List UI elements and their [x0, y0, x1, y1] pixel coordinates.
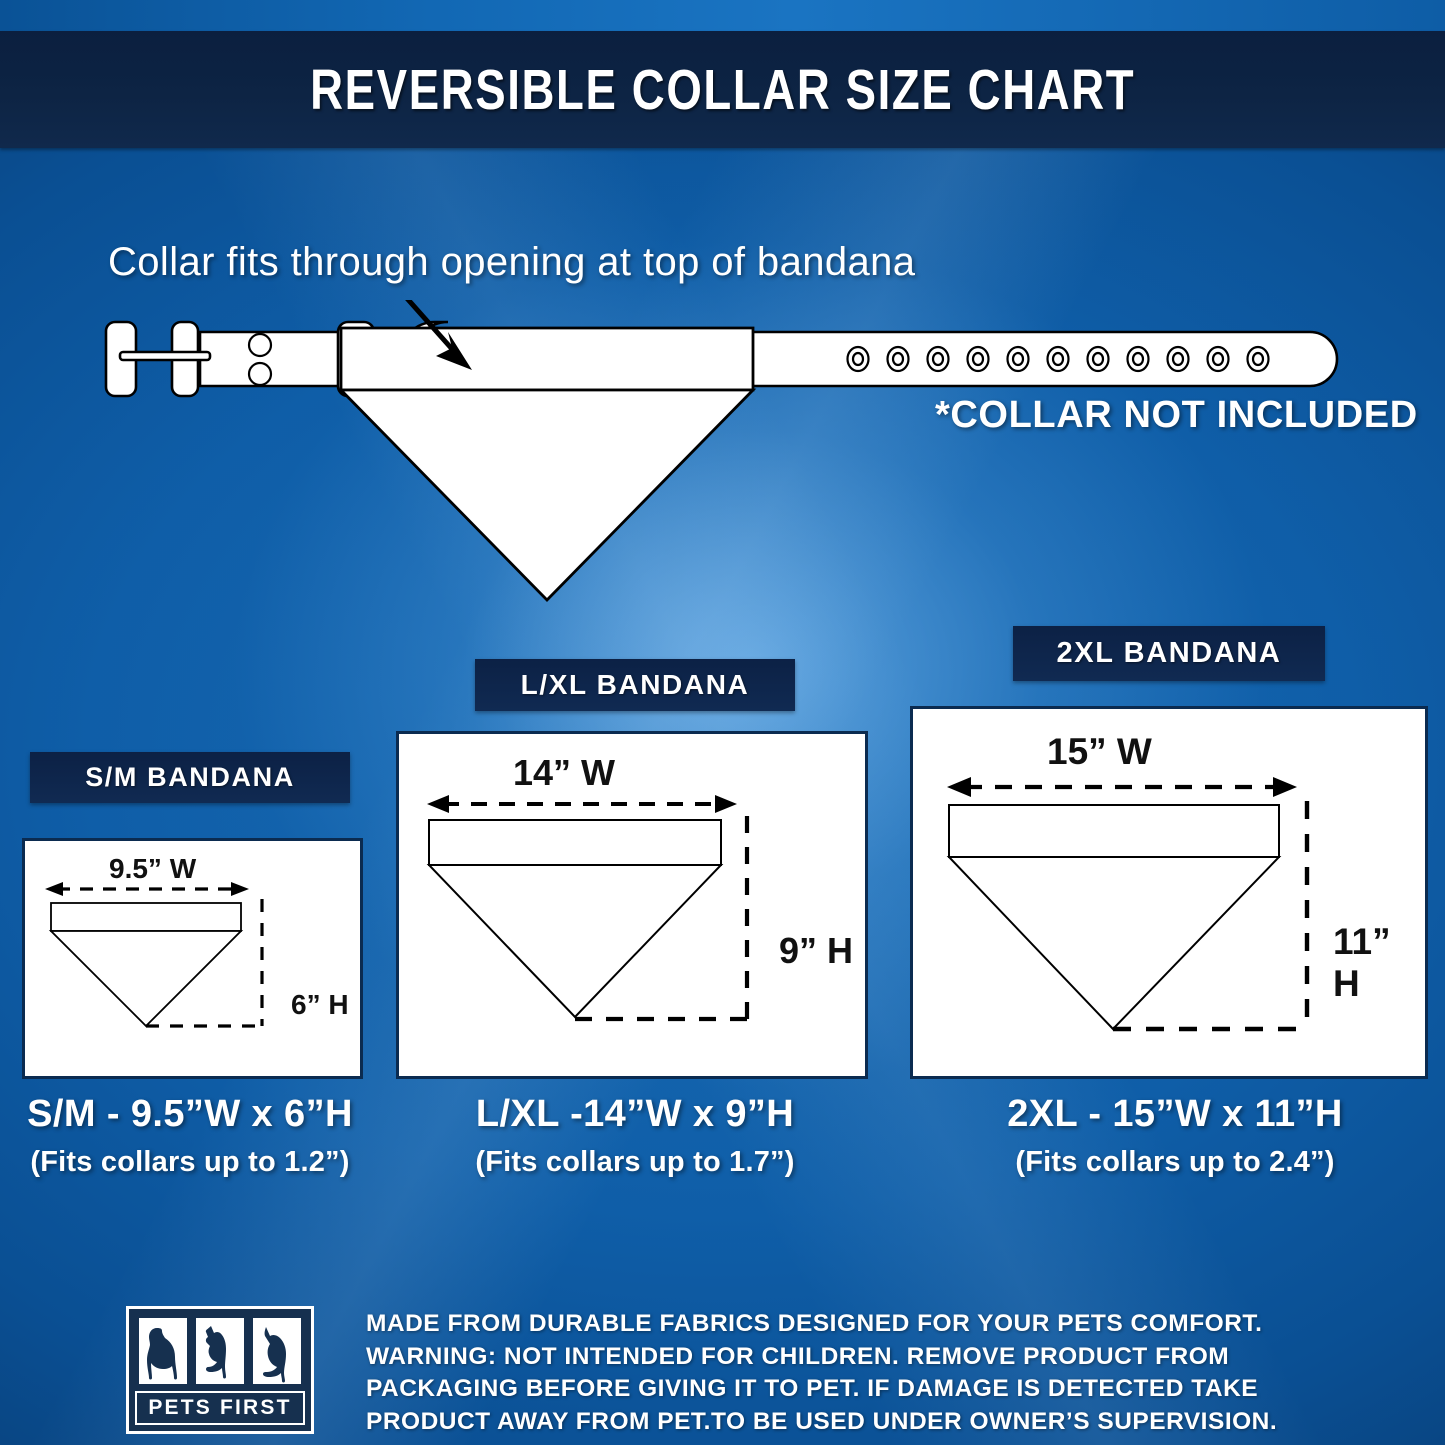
caption-size-2xl-sub: (Fits collars up to 2.4”) [995, 1146, 1355, 1179]
lxl-width-label: 14” W [513, 752, 615, 794]
header-bar: REVERSIBLE COLLAR SIZE CHART [0, 31, 1445, 148]
tab-size-lxl-label: L/XL BANDANA [521, 669, 750, 701]
disclaimer-line-3: PACKAGING BEFORE GIVING IT TO PET. IF DA… [366, 1373, 1356, 1406]
caption-size-lxl-main: L/XL -14”W x 9”H [455, 1093, 815, 1136]
diagram-size-lxl [399, 734, 859, 1070]
caption-size-2xl: 2XL - 15”W x 11”H (Fits collars up to 2.… [995, 1093, 1355, 1179]
size-chart-infographic: REVERSIBLE COLLAR SIZE CHART Collar fits… [0, 0, 1445, 1445]
caption-size-2xl-main: 2XL - 15”W x 11”H [995, 1093, 1355, 1136]
lxl-height-label: 9” H [779, 930, 853, 972]
collar-bandana-illustration [80, 300, 1370, 630]
panel-size-lxl: 14” W 9” H [396, 731, 868, 1079]
caption-size-sm-sub: (Fits collars up to 1.2”) [10, 1146, 370, 1179]
tab-size-sm: S/M BANDANA [30, 752, 350, 803]
brand-logo: PETS FIRST [126, 1306, 314, 1434]
logo-dog-panels [137, 1316, 303, 1386]
brand-name: PETS FIRST [135, 1391, 305, 1425]
dog-begging-icon [194, 1316, 246, 1386]
panel-size-2xl: 15” W 11” H [910, 706, 1428, 1079]
caption-size-sm: S/M - 9.5”W x 6”H (Fits collars up to 1.… [10, 1093, 370, 1179]
diagram-size-2xl [913, 709, 1419, 1070]
dog-sitting-icon [137, 1316, 189, 1386]
disclaimer-line-1: MADE FROM DURABLE FABRICS DESIGNED FOR Y… [366, 1308, 1356, 1341]
caption-size-lxl-sub: (Fits collars up to 1.7”) [455, 1146, 815, 1179]
disclaimer-line-4: PRODUCT AWAY FROM PET.TO BE USED UNDER O… [366, 1406, 1356, 1439]
collar-instruction-text: Collar fits through opening at top of ba… [108, 240, 915, 285]
collar-not-included-note: *COLLAR NOT INCLUDED [935, 394, 1418, 437]
page-title: REVERSIBLE COLLAR SIZE CHART [310, 57, 1135, 123]
disclaimer-line-2: WARNING: NOT INTENDED FOR CHILDREN. REMO… [366, 1341, 1356, 1374]
tab-size-lxl: L/XL BANDANA [475, 659, 795, 711]
footer-disclaimer: MADE FROM DURABLE FABRICS DESIGNED FOR Y… [366, 1308, 1356, 1438]
dog-shepherd-icon [251, 1316, 303, 1386]
caption-size-sm-main: S/M - 9.5”W x 6”H [10, 1093, 370, 1136]
top-accent-strip [0, 0, 1445, 31]
sm-height-label: 6” H [291, 989, 349, 1021]
tab-size-2xl-label: 2XL BANDANA [1057, 637, 1282, 670]
panel-size-sm: 9.5” W 6” H [22, 838, 363, 1079]
xxl-width-label: 15” W [1047, 731, 1152, 773]
caption-size-lxl: L/XL -14”W x 9”H (Fits collars up to 1.7… [455, 1093, 815, 1179]
xxl-height-label: 11” H [1333, 921, 1425, 1005]
tab-size-sm-label: S/M BANDANA [85, 762, 295, 793]
tab-size-2xl: 2XL BANDANA [1013, 626, 1325, 681]
bandana-shape [341, 328, 753, 600]
sm-width-label: 9.5” W [109, 853, 196, 885]
